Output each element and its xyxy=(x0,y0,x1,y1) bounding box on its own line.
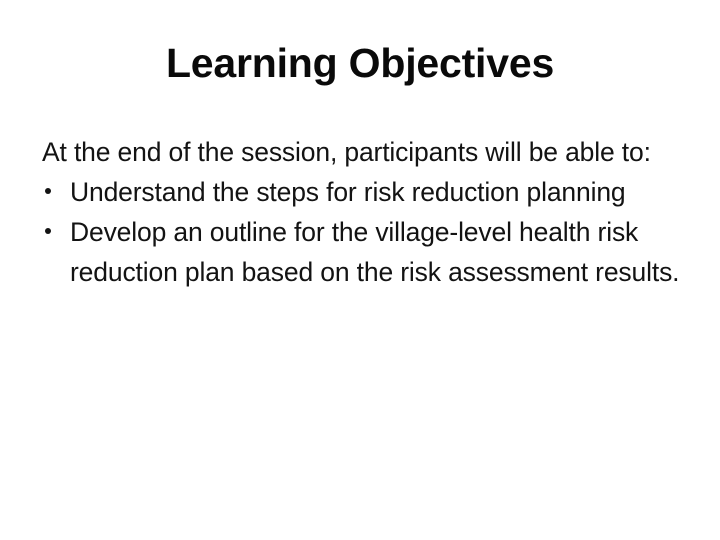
lead-in-paragraph: At the end of the session, participants … xyxy=(42,132,668,172)
slide-body-content: At the end of the session, participants … xyxy=(42,132,672,292)
list-item: Understand the steps for risk reduction … xyxy=(42,172,630,212)
bullet-dot-icon xyxy=(45,228,51,234)
bullet-dot-icon xyxy=(45,188,51,194)
list-item-label: Develop an outline for the village-level… xyxy=(70,217,679,287)
page-title: Learning Objectives xyxy=(0,38,720,88)
objectives-list: Understand the steps for risk reduction … xyxy=(42,172,672,292)
list-item-label: Understand the steps for risk reduction … xyxy=(70,177,626,207)
list-item: Develop an outline for the village-level… xyxy=(42,212,695,292)
presentation-slide: Learning Objectives At the end of the se… xyxy=(0,0,720,540)
